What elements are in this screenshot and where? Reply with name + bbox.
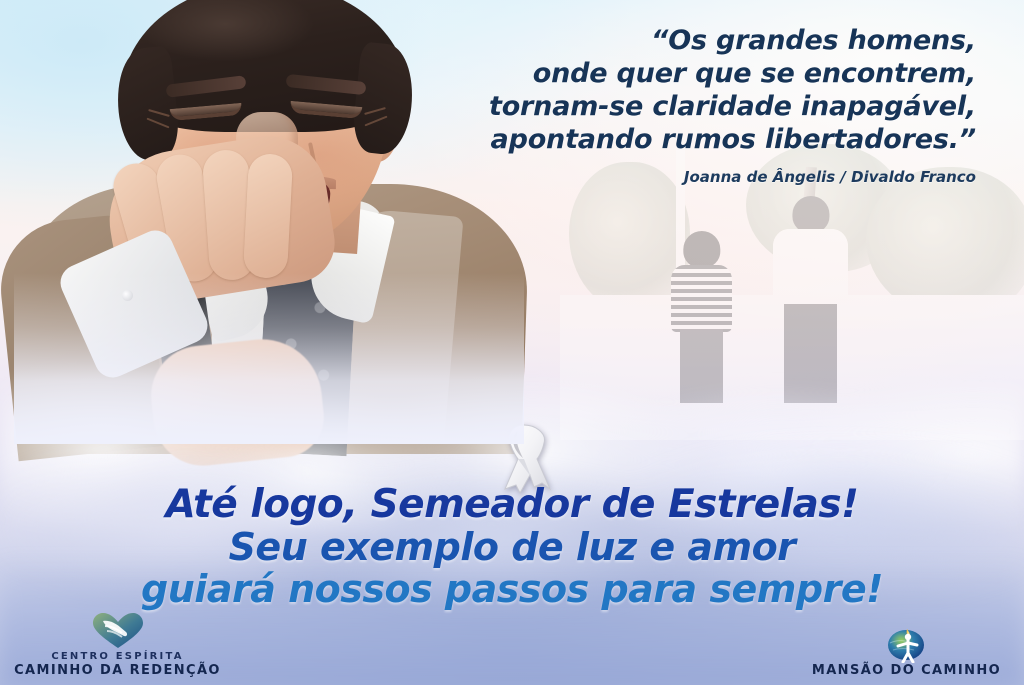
logo-centro-espirita-caminho-da-redencao: CENTRO ESPÍRITA CAMINHO DA REDENÇÃO bbox=[10, 612, 225, 679]
walking-adult-figure bbox=[773, 196, 847, 399]
portrait-fade-mask bbox=[14, 0, 524, 444]
memorial-poster: “Os grandes homens, onde quer que se enc… bbox=[0, 0, 1024, 685]
headline-line-3: guiará nossos passos para sempre! bbox=[0, 568, 1024, 610]
figure-legs bbox=[680, 329, 723, 403]
portrait-divaldo-franco bbox=[14, 0, 524, 444]
figure-head bbox=[792, 196, 829, 233]
figure-legs bbox=[784, 304, 837, 403]
hands-heart-icon bbox=[10, 612, 225, 650]
headline-line-2: Seu exemplo de luz e amor bbox=[0, 526, 1024, 568]
headline-block: Até logo, Semeador de Estrelas! Seu exem… bbox=[0, 484, 1024, 610]
logo-left-line-2: CAMINHO DA REDENÇÃO bbox=[10, 663, 225, 679]
background-photo-two-walkers bbox=[560, 150, 1024, 440]
headline-line-1: Até logo, Semeador de Estrelas! bbox=[0, 484, 1024, 526]
figure-head bbox=[683, 231, 720, 268]
logo-left-line-1: CENTRO ESPÍRITA bbox=[10, 650, 225, 663]
walking-child-figure bbox=[671, 231, 731, 399]
logo-mansao-do-caminho: MANSÃO DO CAMINHO bbox=[799, 625, 1014, 679]
figure-torso bbox=[671, 265, 731, 332]
figure-torso bbox=[773, 229, 847, 306]
globe-figure-flame-icon bbox=[799, 625, 1014, 663]
logo-right-line-2: MANSÃO DO CAMINHO bbox=[799, 663, 1014, 679]
